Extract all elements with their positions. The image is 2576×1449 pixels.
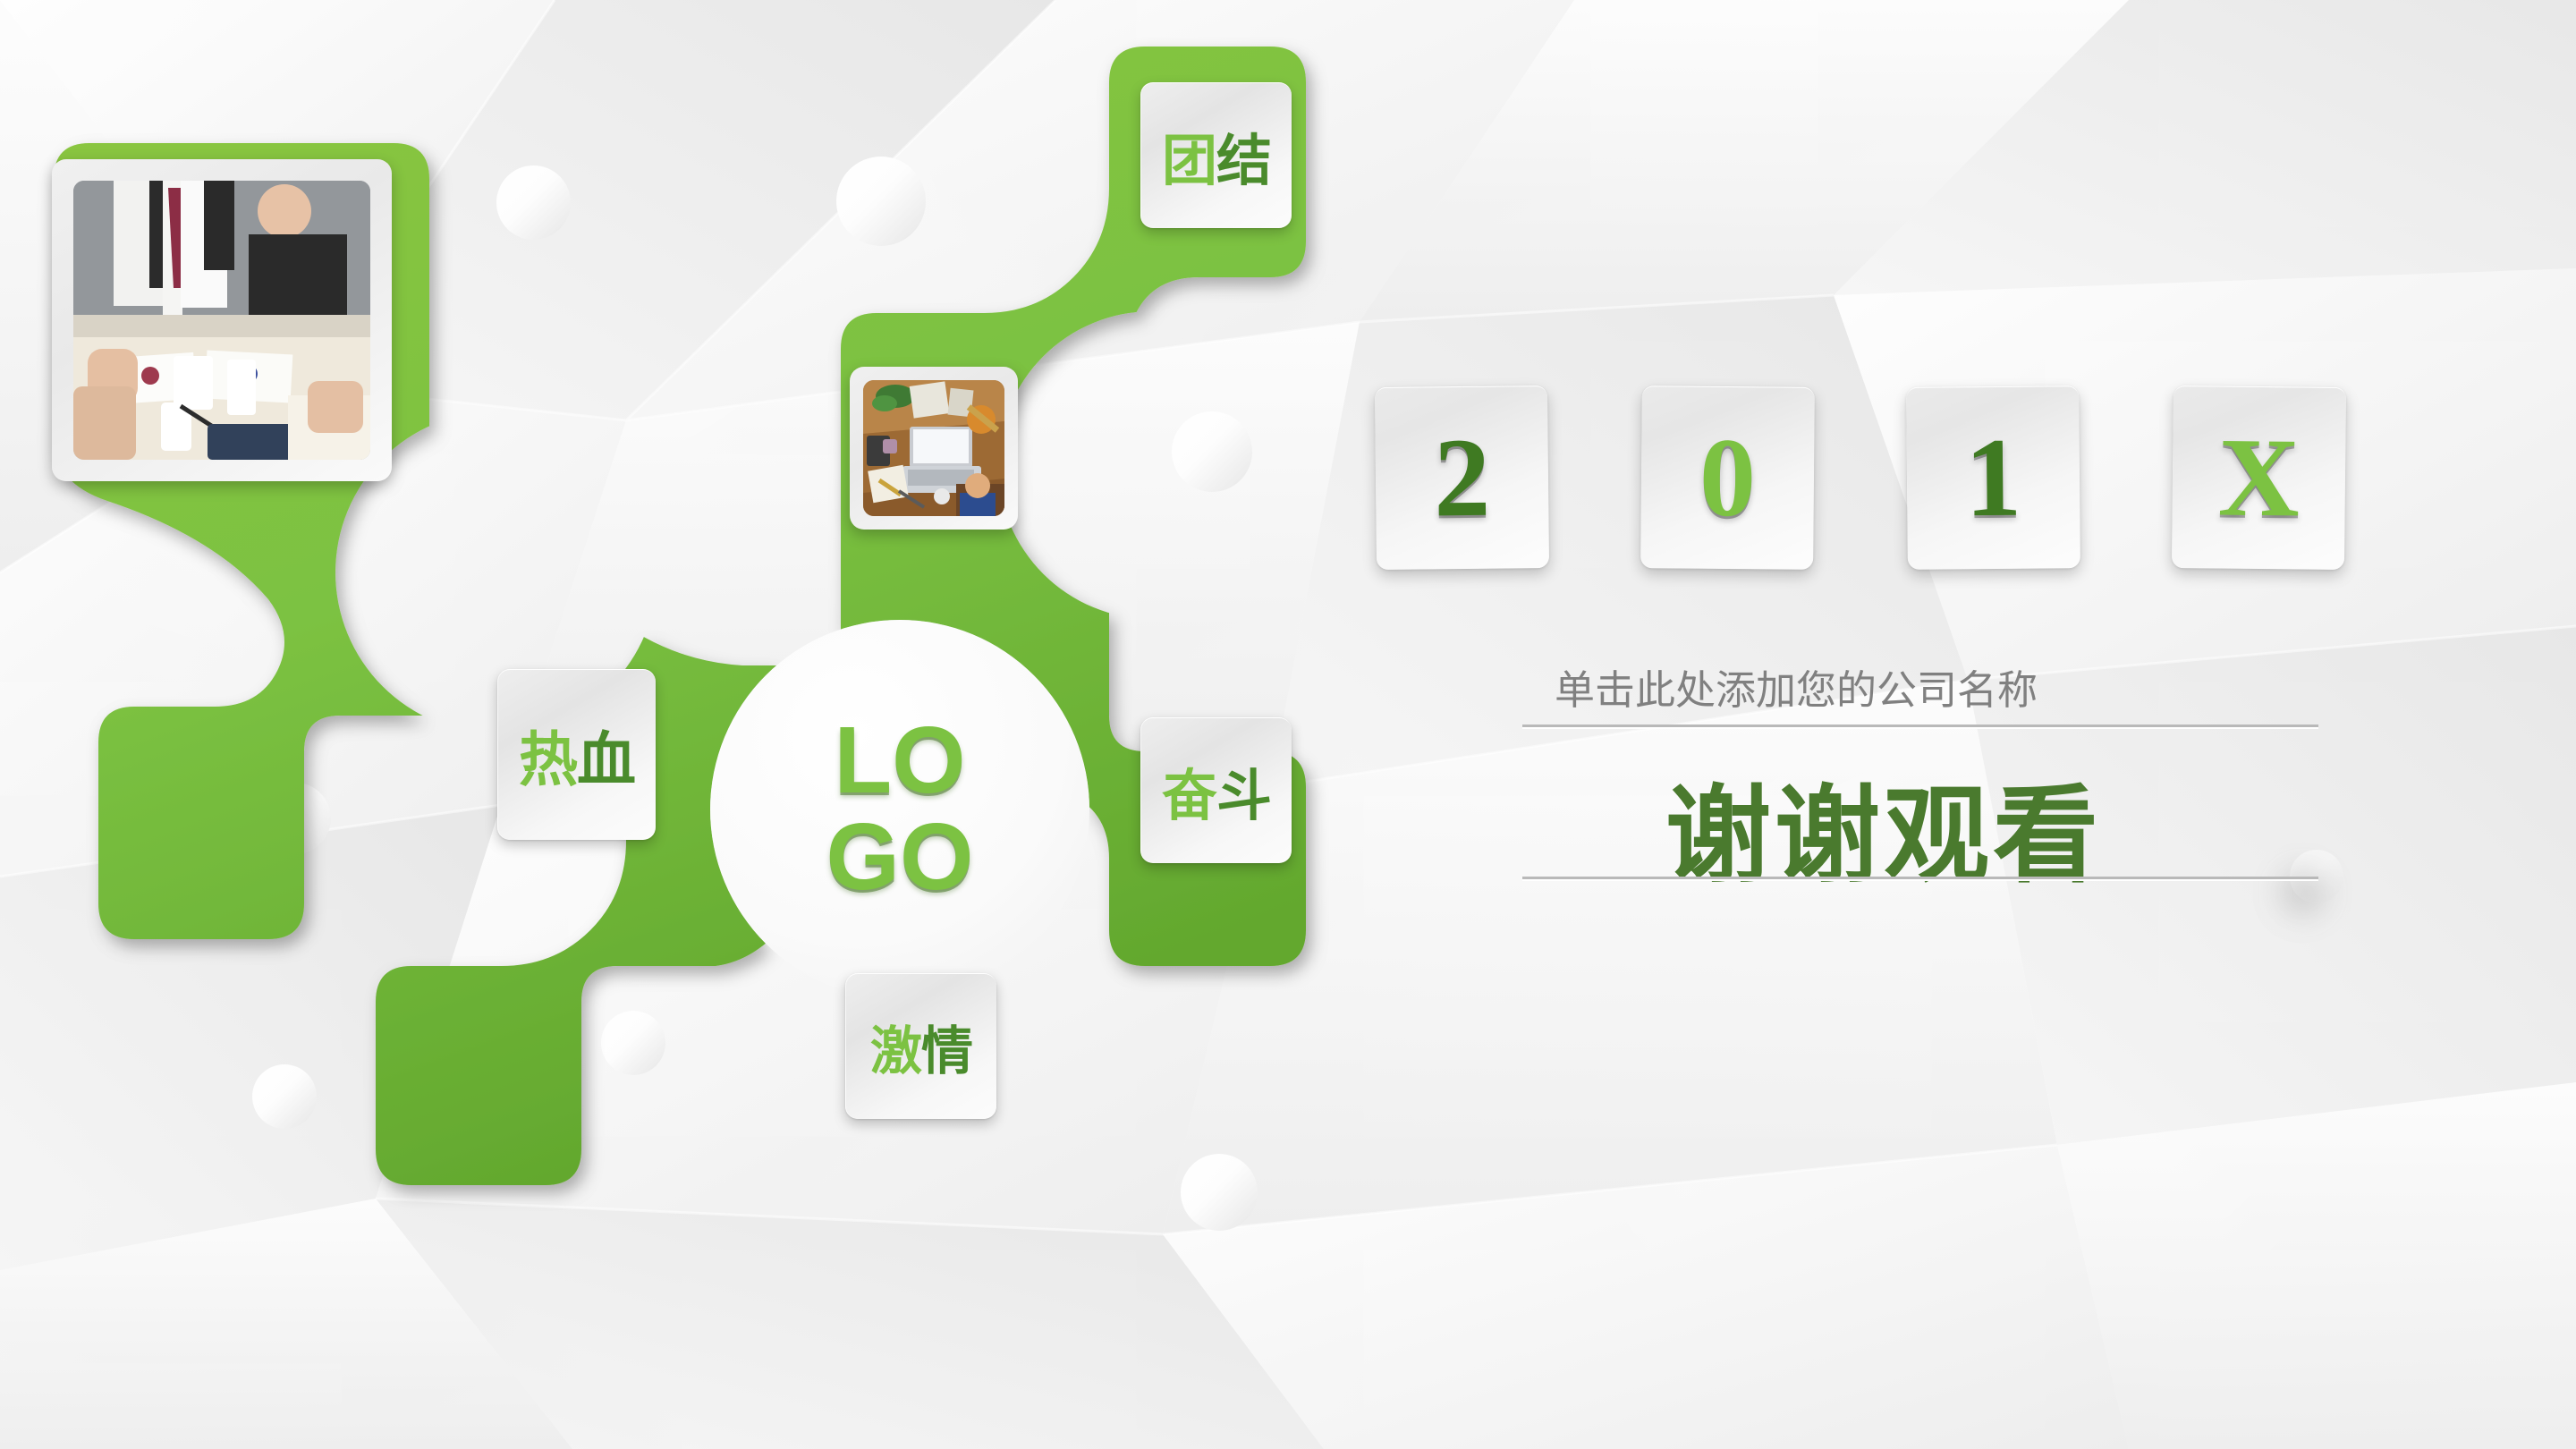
workspace-photo [863,380,1004,516]
card-unity-label: 团结 [1162,115,1271,196]
meeting-photo-frame [52,159,392,481]
year-cards-row: 2 0 1 X [1376,386,2345,569]
year-card-2: 1 [1906,386,2080,570]
company-name-placeholder[interactable]: 单击此处添加您的公司名称 [1555,657,2038,716]
card-struggle-char-1: 奋 [1162,763,1216,828]
divider-top [1522,724,2318,729]
workspace-photo-frame [850,367,1018,530]
meeting-photo [73,181,370,460]
year-card-2-char: 1 [1964,421,2021,535]
card-passion[interactable]: 激情 [845,973,996,1119]
card-blood-char-1: 热 [519,725,577,794]
slide-root: LO GO 团结 奋斗 激情 热血 2 0 1 X [0,0,2576,1449]
year-card-3: X [2172,386,2346,570]
card-passion-char-2: 情 [921,1021,972,1081]
card-unity[interactable]: 团结 [1140,82,1292,228]
card-passion-char-1: 激 [870,1021,921,1081]
year-card-3-char: X [2217,421,2300,535]
year-card-0-char: 2 [1433,421,1490,535]
year-card-1-char: 0 [1699,421,1756,535]
divider-bottom [1522,877,2318,881]
year-card-0: 2 [1375,386,1549,570]
card-struggle[interactable]: 奋斗 [1140,717,1292,863]
card-blood-label: 热血 [519,712,635,798]
card-passion-label: 激情 [870,1009,972,1084]
card-struggle-char-2: 斗 [1216,763,1271,828]
card-blood[interactable]: 热血 [497,669,656,840]
logo-line-2: GO [826,813,974,902]
card-struggle-label: 奋斗 [1162,750,1271,831]
card-unity-char-2: 结 [1216,128,1271,193]
logo-circle: LO GO [710,620,1089,999]
card-blood-char-2: 血 [577,725,635,794]
card-unity-char-1: 团 [1162,128,1216,193]
logo-line-1: LO [834,716,965,806]
year-card-1: 0 [1640,386,1815,570]
